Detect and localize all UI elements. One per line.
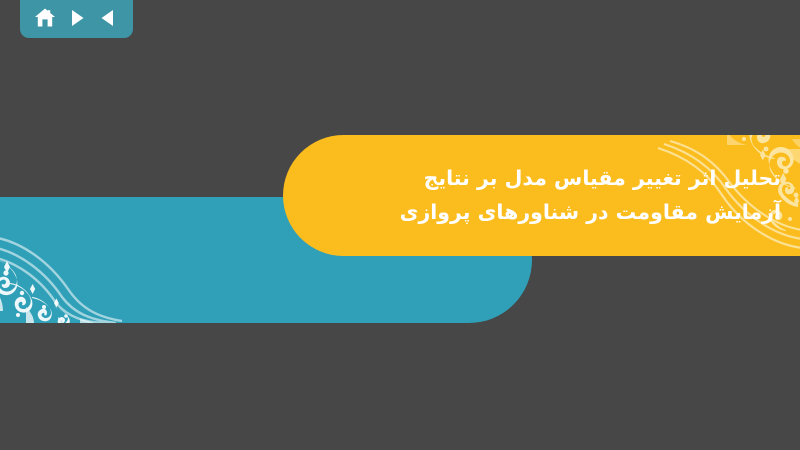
teal-arabesque-ornament bbox=[0, 197, 172, 323]
home-slide-button[interactable] bbox=[32, 5, 58, 31]
title-slide: تحلیل اثر تغییر مقیاس مدل بر نتایج آزمای… bbox=[0, 0, 800, 450]
title-line-2: آزمایش مقاومت در شناورهای پروازی bbox=[391, 196, 781, 229]
forward-triangle-icon bbox=[66, 7, 88, 29]
back-triangle-icon bbox=[97, 7, 119, 29]
title-line-1: تحلیل اثر تغییر مقیاس مدل بر نتایج bbox=[391, 162, 781, 195]
slide-title: تحلیل اثر تغییر مقیاس مدل بر نتایج آزمای… bbox=[283, 162, 800, 228]
next-slide-button[interactable] bbox=[64, 5, 90, 31]
home-icon bbox=[33, 6, 57, 30]
navigation-toolbar bbox=[20, 0, 133, 38]
title-banner: تحلیل اثر تغییر مقیاس مدل بر نتایج آزمای… bbox=[283, 135, 800, 256]
previous-slide-button[interactable] bbox=[95, 5, 121, 31]
